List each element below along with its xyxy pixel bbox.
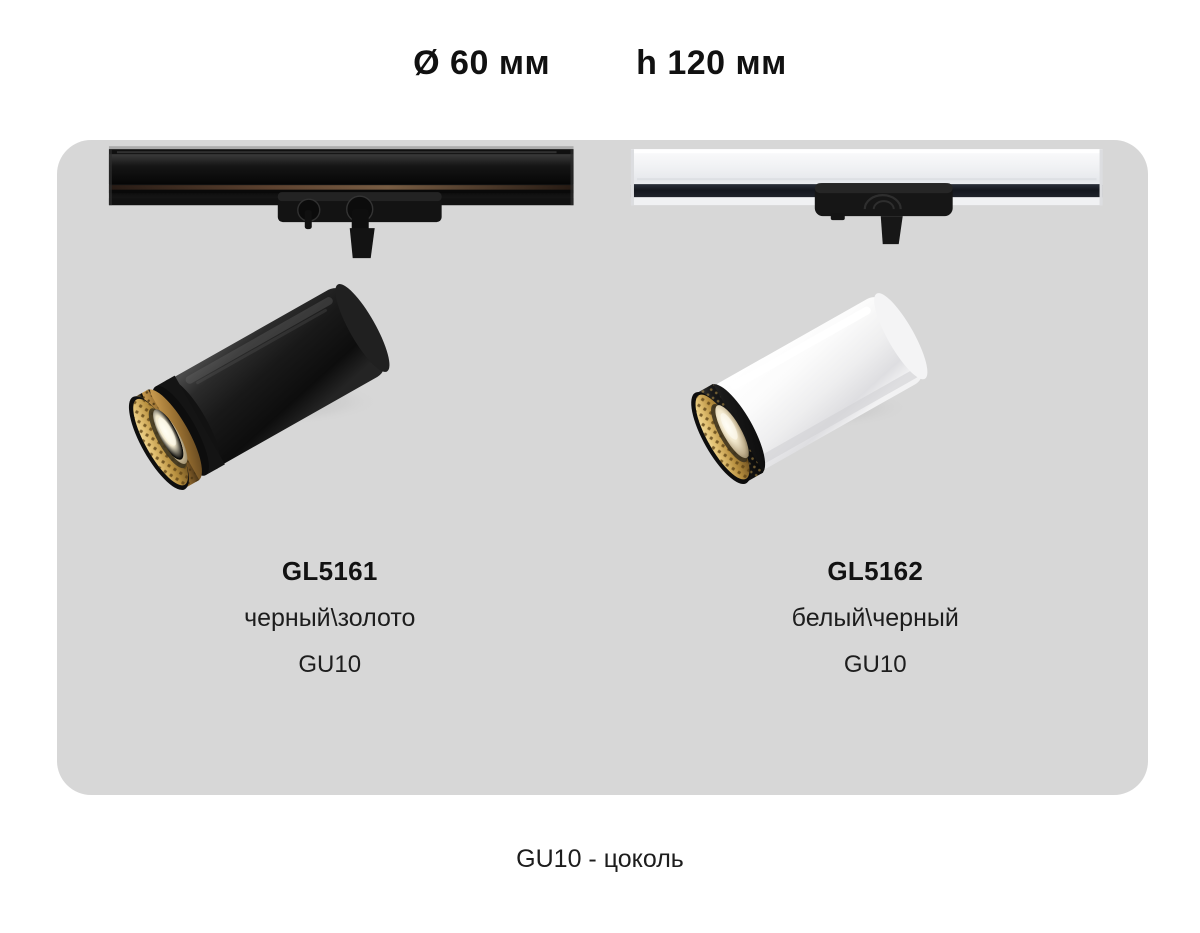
spotlight-head-black xyxy=(118,275,400,497)
product-color: белый\черный xyxy=(603,606,1149,631)
dimensions-row: Ø 60 мм h 120 мм xyxy=(0,44,1200,83)
track-spotlight-white-black-illustration xyxy=(603,140,1149,570)
product-item-gl5162[interactable]: GL5162 белый\черный GU10 xyxy=(603,140,1149,795)
product-card: GL5161 черный\золото GU10 xyxy=(57,140,1148,795)
product-caption-gl5161: GL5161 черный\золото GU10 xyxy=(57,558,603,677)
product-list: GL5161 черный\золото GU10 xyxy=(57,140,1148,795)
product-model: GL5162 xyxy=(603,558,1149,584)
product-model: GL5161 xyxy=(57,558,603,584)
height-label: h 120 мм xyxy=(636,44,787,83)
product-caption-gl5162: GL5162 белый\черный GU10 xyxy=(603,558,1149,677)
diameter-label: Ø 60 мм xyxy=(413,44,550,83)
socket-footnote: GU10 - цоколь xyxy=(0,845,1200,874)
spotlight-head-white xyxy=(680,285,937,492)
track-spotlight-black-gold-illustration xyxy=(57,140,603,570)
track-adapter-black xyxy=(278,192,442,258)
track-adapter-black xyxy=(814,183,952,244)
product-item-gl5161[interactable]: GL5161 черный\золото GU10 xyxy=(57,140,603,795)
product-color: черный\золото xyxy=(57,606,603,631)
product-socket: GU10 xyxy=(57,653,603,677)
product-socket: GU10 xyxy=(603,653,1149,677)
